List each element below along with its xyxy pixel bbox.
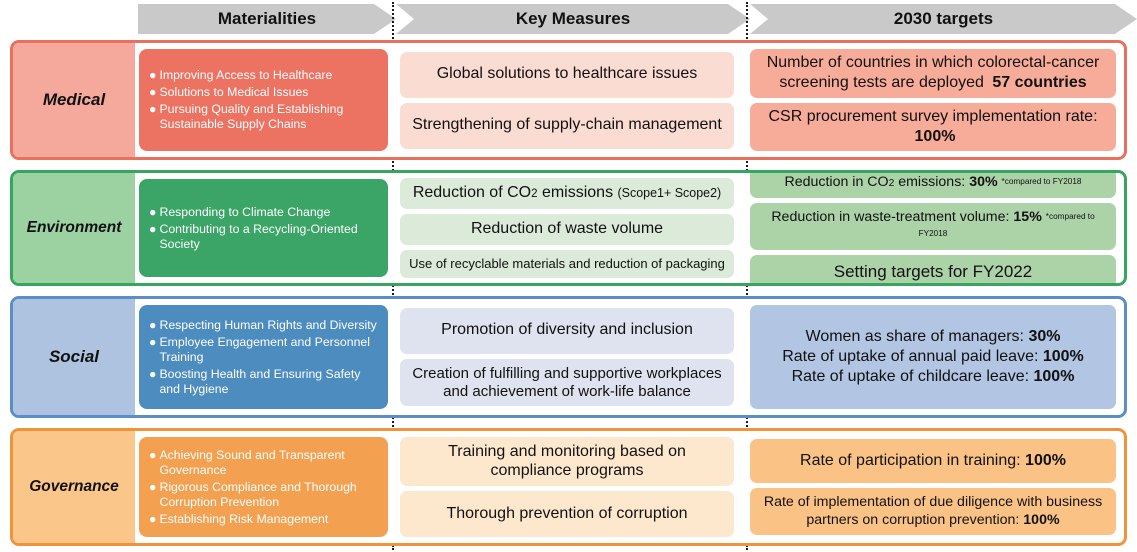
materiality-text: Responding to Climate Change <box>159 205 378 220</box>
bullet-icon: ● <box>149 318 156 333</box>
key-measure-text-rest: emissions <box>538 184 614 201</box>
bullet-icon: ● <box>149 205 156 220</box>
category-label-environment: Environment <box>13 173 135 283</box>
materialities-cell-medical: ● Improving Access to Healthcare ● Solut… <box>135 43 392 157</box>
target-text: Rate of uptake of childcare leave: <box>792 368 1029 385</box>
target-line: Rate of uptake of childcare leave: 100% <box>792 368 1075 385</box>
key-measure-pill: Creation of fulfilling and supportive wo… <box>400 359 734 406</box>
category-label-governance: Governance <box>13 431 135 543</box>
column-header-key-measures: Key Measures <box>396 4 750 34</box>
target-pill: Number of countries in which colorectal-… <box>750 49 1116 98</box>
row-governance: Governance ● Achieving Sound and Transpa… <box>10 428 1127 546</box>
target-pill: Women as share of managers: 30% Rate of … <box>750 305 1116 409</box>
materiality-text: Contributing to a Recycling-Oriented Soc… <box>159 222 378 252</box>
materiality-text: Achieving Sound and Transparent Governan… <box>159 448 378 478</box>
list-item: ● Rigorous Compliance and Thorough Corru… <box>149 480 378 510</box>
key-measure-pill: Reduction of waste volume <box>400 214 734 245</box>
key-measure-pill: Thorough prevention of corruption <box>400 491 734 537</box>
key-measures-cell-governance: Training and monitoring based on complia… <box>392 431 742 543</box>
target-text: Women as share of managers: <box>806 328 1024 345</box>
key-measure-pill: Global solutions to healthcare issues <box>400 52 734 98</box>
materiality-text: Establishing Risk Management <box>159 512 378 527</box>
materialities-box-environment: ● Responding to Climate Change ● Contrib… <box>139 179 388 277</box>
targets-cell-environment: Reduction in CO2 emissions: 30% *compare… <box>742 173 1124 283</box>
bullet-icon: ● <box>149 102 156 117</box>
bullet-icon: ● <box>149 512 156 527</box>
bullet-icon: ● <box>149 335 156 350</box>
targets-cell-social: Women as share of managers: 30% Rate of … <box>742 299 1124 415</box>
bullet-icon: ● <box>149 222 156 237</box>
list-item: ● Respecting Human Rights and Diversity <box>149 318 378 333</box>
materiality-text: Employee Engagement and Personnel Traini… <box>159 335 378 365</box>
list-item: ● Employee Engagement and Personnel Trai… <box>149 335 378 365</box>
target-pill: Reduction in waste-treatment volume: 15%… <box>750 203 1116 251</box>
key-measures-cell-medical: Global solutions to healthcare issues St… <box>392 43 742 157</box>
key-measure-pill: Use of recyclable materials and reductio… <box>400 250 734 277</box>
bullet-icon: ● <box>149 480 156 495</box>
row-environment: Environment ● Responding to Climate Chan… <box>10 170 1127 286</box>
bullet-icon: ● <box>149 448 156 463</box>
materialities-cell-environment: ● Responding to Climate Change ● Contrib… <box>135 173 392 283</box>
target-value: 15% <box>1013 209 1041 225</box>
target-pill: Reduction in CO2 emissions: 30% *compare… <box>750 170 1116 198</box>
target-value: 100% <box>1023 512 1059 528</box>
materiality-text: Respecting Human Rights and Diversity <box>159 318 378 333</box>
target-pill: Rate of implementation of due diligence … <box>750 488 1116 536</box>
target-value: 30% <box>969 174 997 190</box>
target-value: 100% <box>915 128 956 145</box>
esg-materiality-matrix: Materialities Key Measures 2030 targets … <box>0 0 1137 552</box>
materialities-box-medical: ● Improving Access to Healthcare ● Solut… <box>139 49 388 151</box>
materiality-text: Rigorous Compliance and Thorough Corrupt… <box>159 480 378 510</box>
target-text: Reduction in waste-treatment volume: <box>771 209 1009 225</box>
target-value: 30% <box>1028 328 1060 345</box>
row-social: Social ● Respecting Human Rights and Div… <box>10 296 1127 418</box>
category-label-social: Social <box>13 299 135 415</box>
target-text: Reduction in CO <box>784 174 888 190</box>
materialities-cell-governance: ● Achieving Sound and Transparent Govern… <box>135 431 392 543</box>
key-measure-pill: Strengthening of supply-chain management <box>400 103 734 149</box>
target-value: 100% <box>1025 452 1066 469</box>
column-header-materialities: Materialities <box>138 4 396 34</box>
list-item: ● Contributing to a Recycling-Oriented S… <box>149 222 378 252</box>
bullet-icon: ● <box>149 85 156 100</box>
key-measure-pill: Promotion of diversity and inclusion <box>400 308 734 354</box>
materiality-text: Pursuing Quality and Establishing Sustai… <box>159 102 378 132</box>
column-header-row: Materialities Key Measures 2030 targets <box>0 0 1137 36</box>
target-value: 100% <box>1034 368 1075 385</box>
materiality-text: Boosting Health and Ensuring Safety and … <box>159 367 378 397</box>
materialities-box-social: ● Respecting Human Rights and Diversity … <box>139 305 388 409</box>
list-item: ● Solutions to Medical Issues <box>149 85 378 100</box>
target-value: 100% <box>1043 348 1084 365</box>
materialities-box-governance: ● Achieving Sound and Transparent Govern… <box>139 437 388 537</box>
key-measure-text: Reduction of CO <box>413 184 531 201</box>
column-header-key-measures-label: Key Measures <box>516 9 630 29</box>
target-footnote: *compared to FY2018 <box>1002 177 1082 186</box>
row-medical: Medical ● Improving Access to Healthcare… <box>10 40 1127 160</box>
materiality-text: Solutions to Medical Issues <box>159 85 378 100</box>
targets-cell-governance: Rate of participation in training: 100% … <box>742 431 1124 543</box>
list-item: ● Responding to Climate Change <box>149 205 378 220</box>
list-item: ● Pursuing Quality and Establishing Sust… <box>149 102 378 132</box>
column-header-2030-targets: 2030 targets <box>750 4 1137 34</box>
materialities-cell-social: ● Respecting Human Rights and Diversity … <box>135 299 392 415</box>
column-header-2030-targets-label: 2030 targets <box>894 9 993 29</box>
target-pill: Setting targets for FY2022 <box>750 255 1116 286</box>
list-item: ● Achieving Sound and Transparent Govern… <box>149 448 378 478</box>
key-measure-pill: Training and monitoring based on complia… <box>400 437 734 486</box>
list-item: ● Boosting Health and Ensuring Safety an… <box>149 367 378 397</box>
targets-cell-medical: Number of countries in which colorectal-… <box>742 43 1124 157</box>
target-line: Women as share of managers: 30% <box>806 328 1061 345</box>
target-pill: CSR procurement survey implementation ra… <box>750 103 1116 152</box>
target-text: CSR procurement survey implementation ra… <box>768 108 1097 125</box>
bullet-icon: ● <box>149 367 156 382</box>
bullet-icon: ● <box>149 68 156 83</box>
key-measures-cell-environment: Reduction of CO2 emissions (Scope1+ Scop… <box>392 173 742 283</box>
target-text-mid: emissions: <box>894 174 965 190</box>
target-value: 57 countries <box>992 74 1086 91</box>
key-measure-scope-note: (Scope1+ Scope2) <box>618 186 722 200</box>
target-text: Rate of uptake of annual paid leave: <box>782 348 1038 365</box>
category-label-medical: Medical <box>13 43 135 157</box>
key-measures-cell-social: Promotion of diversity and inclusion Cre… <box>392 299 742 415</box>
materiality-text: Improving Access to Healthcare <box>159 68 378 83</box>
list-item: ● Improving Access to Healthcare <box>149 68 378 83</box>
list-item: ● Establishing Risk Management <box>149 512 378 527</box>
column-header-materialities-label: Materialities <box>218 9 316 29</box>
target-line: Rate of uptake of annual paid leave: 100… <box>782 348 1084 365</box>
target-text: Rate of participation in training: <box>800 452 1021 469</box>
key-measure-pill: Reduction of CO2 emissions (Scope1+ Scop… <box>400 178 734 209</box>
target-pill: Rate of participation in training: 100% <box>750 439 1116 483</box>
